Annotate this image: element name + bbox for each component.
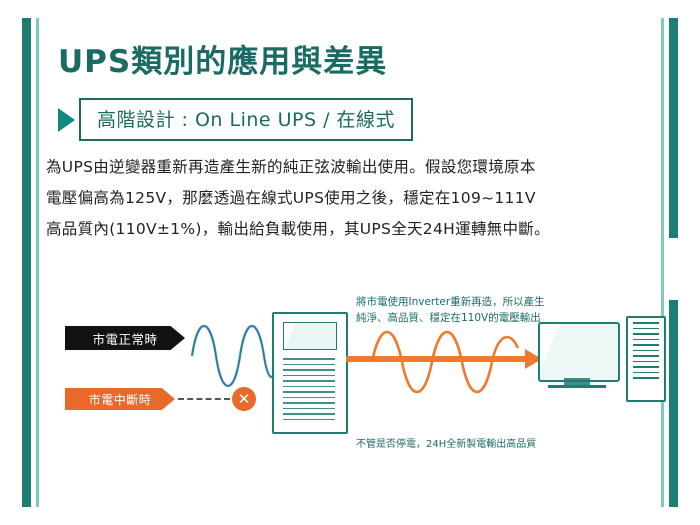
output-sine-wave-icon xyxy=(370,324,520,398)
monitor-base xyxy=(548,385,606,388)
input-sine-wave-icon xyxy=(190,308,276,404)
note-bottom: 不管是否停電，24H全新製電輸出高品質 xyxy=(356,437,536,453)
subtitle-label: 高階設計 : On Line UPS / 在線式 xyxy=(79,98,413,141)
label-mains-outage: 市電中斷時 xyxy=(65,388,175,410)
monitor-icon xyxy=(538,322,620,382)
body-line-1: 為UPS由逆變器重新再造產生新的純正弦波輸出使用。假設您環境原本 xyxy=(46,152,636,183)
frame-bar-right-top xyxy=(669,18,678,238)
body-line-3: 高品質內(110V±1%)，輸出給負載使用，其UPS全天24H運轉無中斷。 xyxy=(46,214,636,245)
frame-bar-left xyxy=(22,18,31,507)
ups-display-icon xyxy=(283,322,337,350)
frame-bar-right-thin xyxy=(661,18,664,507)
frame-bar-left-thin xyxy=(36,18,39,507)
subtitle-group: 高階設計 : On Line UPS / 在線式 xyxy=(58,98,413,141)
server-tower-icon xyxy=(626,316,666,402)
triangle-right-icon xyxy=(58,108,75,132)
body-line-2: 電壓偏高為125V，那麼透過在線式UPS使用之後，穩定在109~111V xyxy=(46,183,636,214)
ups-unit xyxy=(272,312,348,434)
page-title: UPS類別的應用與差異 xyxy=(58,36,387,81)
ups-front-panel-lines xyxy=(283,358,335,424)
label-mains-normal: 市電正常時 xyxy=(65,326,185,350)
note-top-line-1: 將市電使用Inverter重新再造，所以產生 xyxy=(356,294,545,310)
ups-diagram: 將市電使用Inverter重新再造，所以產生 純淨、高品質、穩定在110V的電壓… xyxy=(40,280,660,480)
body-paragraph: 為UPS由逆變器重新再造產生新的純正弦波輸出使用。假設您環境原本 電壓偏高為12… xyxy=(46,152,636,245)
note-top: 將市電使用Inverter重新再造，所以產生 純淨、高品質、穩定在110V的電壓… xyxy=(356,294,545,327)
monitor-stand xyxy=(564,378,590,385)
frame-bar-right-bottom xyxy=(669,300,678,507)
